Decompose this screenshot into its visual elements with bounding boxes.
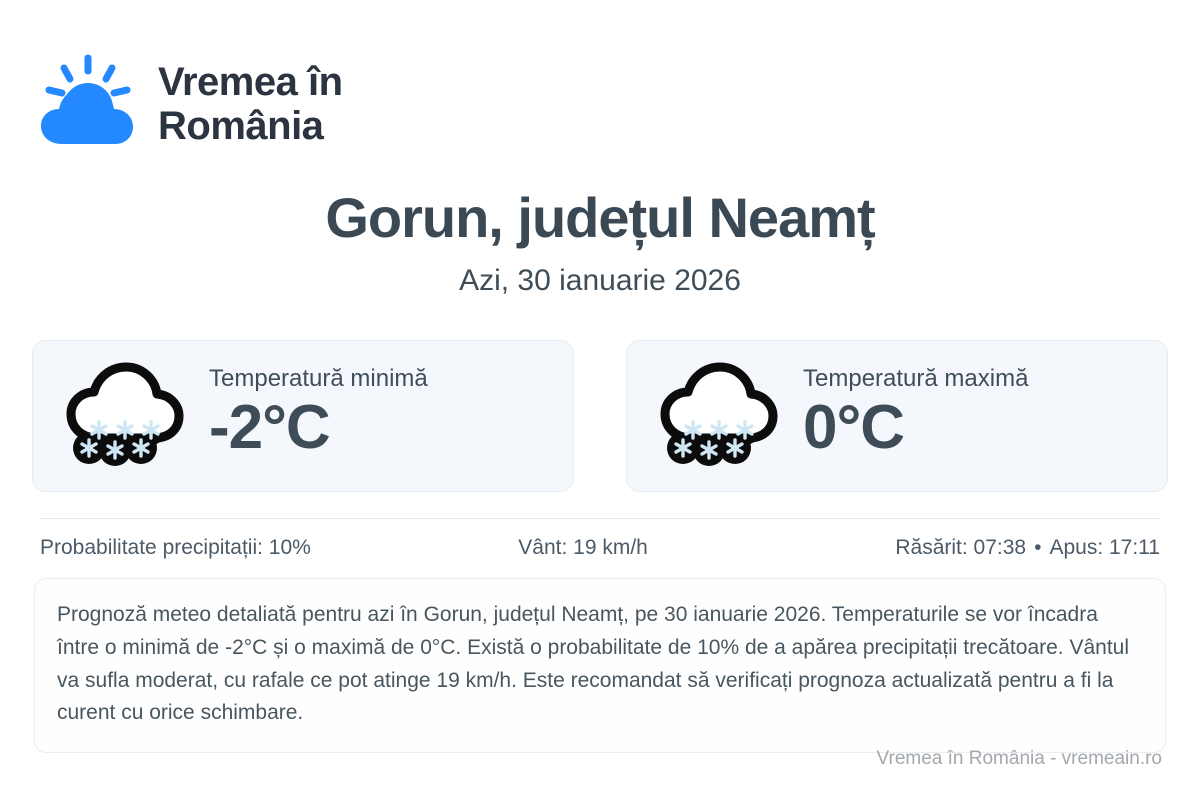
stats-divider: [40, 518, 1160, 519]
min-temperature-label: Temperatură minimă: [209, 365, 428, 393]
site-footer: Vremea în România - vremeain.ro: [877, 748, 1162, 770]
site-logo[interactable]: Vremea în România: [36, 52, 343, 156]
weather-page: Vremea în România Gorun, județul Neamț A…: [0, 0, 1200, 800]
forecast-description: Prognoză meteo detaliată pentru azi în G…: [34, 578, 1166, 753]
page-title: Gorun, județul Neamț: [0, 185, 1200, 250]
sunset-value: Apus: 17:11: [1049, 536, 1160, 559]
min-temperature-body: Temperatură minimă -2°C: [209, 365, 428, 466]
min-temperature-card: Temperatură minimă -2°C: [32, 340, 574, 492]
snow-cloud-icon: [63, 360, 187, 472]
snow-cloud-icon: [657, 360, 781, 472]
bullet-separator-icon: •: [1026, 536, 1049, 559]
sunrise-value: Răsărit: 07:38: [895, 536, 1026, 559]
max-temperature-label: Temperatură maximă: [803, 365, 1028, 393]
min-temperature-value: -2°C: [209, 395, 428, 460]
max-temperature-card: Temperatură maximă 0°C: [626, 340, 1168, 492]
sun-times-stat: Răsărit: 07:38•Apus: 17:11: [895, 536, 1160, 560]
site-logo-text: Vremea în România: [158, 60, 343, 148]
sun-behind-cloud-icon: [36, 52, 140, 156]
max-temperature-body: Temperatură maximă 0°C: [803, 365, 1028, 466]
wind-stat: Vânt: 19 km/h: [518, 536, 648, 560]
page-subtitle: Azi, 30 ianuarie 2026: [0, 264, 1200, 298]
temperature-cards: Temperatură minimă -2°C: [32, 340, 1168, 492]
precipitation-stat: Probabilitate precipitații: 10%: [40, 536, 311, 560]
weather-stats: Probabilitate precipitații: 10% Vânt: 19…: [40, 536, 1160, 560]
max-temperature-value: 0°C: [803, 395, 1028, 460]
